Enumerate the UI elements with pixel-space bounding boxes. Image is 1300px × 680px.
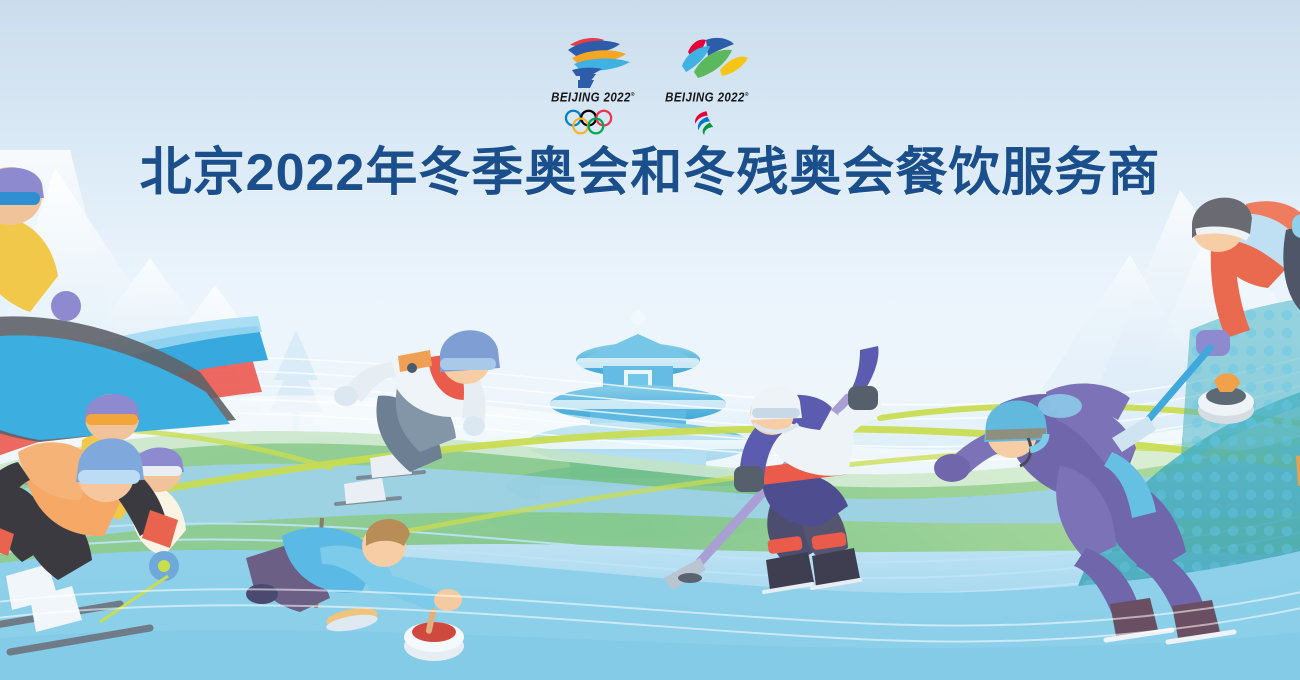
- paralympic-logo-block: BEIJING 2022®: [659, 32, 755, 135]
- beijing-2022-olympic-emblem: [550, 32, 636, 90]
- olympic-wordmark: BEIJING 2022®: [551, 91, 635, 104]
- beijing-2022-paralympic-emblem: [664, 32, 750, 90]
- hockey-puck: [678, 573, 702, 583]
- olympic-rings-icon: [562, 109, 624, 135]
- paralympic-wordmark: BEIJING 2022®: [665, 91, 749, 104]
- emblem-row: BEIJING 2022® BE: [0, 32, 1300, 135]
- paralympic-agitos-icon: [676, 109, 738, 135]
- page-title: 北京2022年冬季奥会和冬残奥会餐饮服务商: [0, 143, 1300, 203]
- beijing-2022-catering-banner: BEIJING 2022® BE: [0, 0, 1300, 680]
- olympic-logo-block: BEIJING 2022®: [545, 32, 641, 135]
